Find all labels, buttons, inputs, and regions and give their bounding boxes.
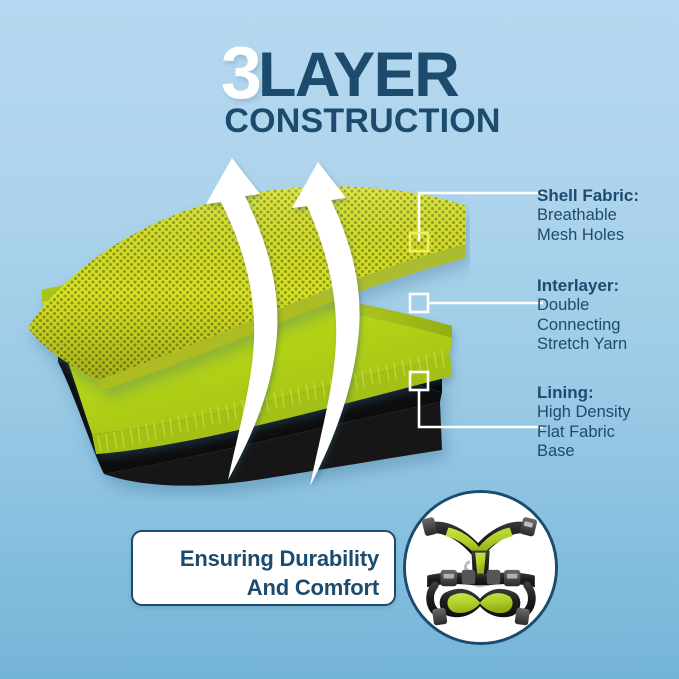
callout-shell-line-1: Breathable: [537, 206, 639, 225]
callout-interlayer-line-2: Connecting: [537, 316, 627, 335]
callout-line-shell: [410, 193, 543, 251]
title-word-layer: LAYER: [258, 40, 458, 110]
callout-shell-title: Shell Fabric:: [537, 186, 639, 206]
callout-interlayer-line-3: Stretch Yarn: [537, 335, 627, 354]
tagline-line-1: Ensuring Durability: [133, 544, 379, 573]
callout-shell-fabric: Shell Fabric: Breathable Mesh Holes: [537, 186, 639, 245]
callout-interlayer: Interlayer: Double Connecting Stretch Ya…: [537, 276, 627, 354]
callout-line-lining: [410, 372, 543, 427]
callout-lining-line-2: Flat Fabric: [537, 423, 631, 442]
tagline-line-2: And Comfort: [133, 573, 379, 602]
lining-square-marker: [410, 372, 428, 390]
callout-interlayer-line-1: Double: [537, 296, 627, 315]
tagline-banner: Ensuring Durability And Comfort: [131, 530, 396, 606]
title-first-row: 3LAYER: [0, 36, 679, 110]
product-photo-circle: [403, 490, 558, 645]
callout-interlayer-title: Interlayer:: [537, 276, 627, 296]
tagline-text: Ensuring Durability And Comfort: [133, 544, 379, 602]
callout-line-interlayer: [410, 294, 543, 312]
three-layer-construction-infographic: 3LAYER CONSTRUCTION: [0, 0, 679, 679]
callout-shell-line-2: Mesh Holes: [537, 226, 639, 245]
callout-lining-title: Lining:: [537, 383, 631, 403]
interlayer-square-marker: [410, 294, 428, 312]
title-word-construction: CONSTRUCTION: [0, 104, 679, 138]
callout-leader-lines: [395, 175, 555, 465]
dog-harness-icon: [406, 493, 555, 642]
callout-lining: Lining: High Density Flat Fabric Base: [537, 383, 631, 461]
page-title: 3LAYER CONSTRUCTION: [0, 36, 679, 138]
callout-lining-line-3: Base: [537, 442, 631, 461]
callout-lining-line-1: High Density: [537, 403, 631, 422]
